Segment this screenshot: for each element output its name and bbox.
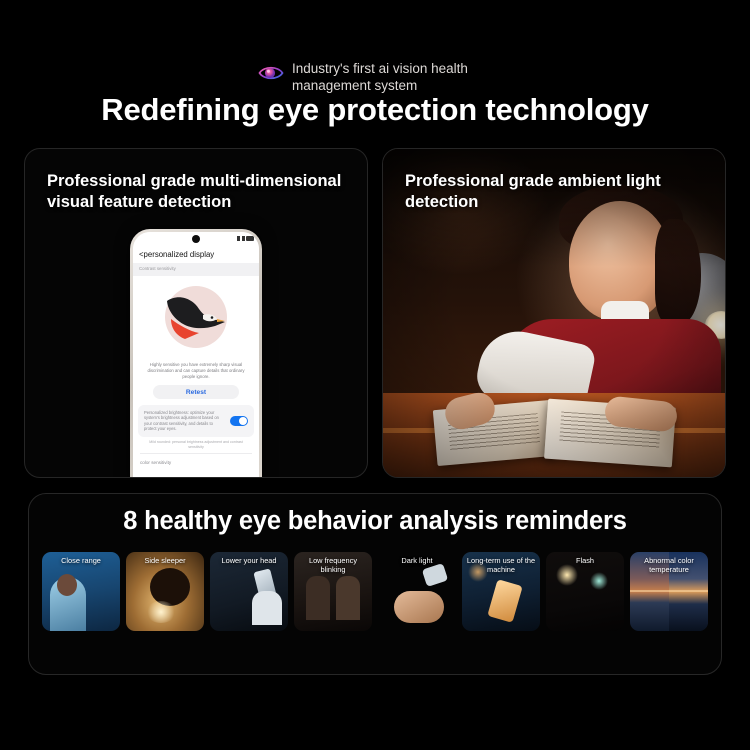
signal-icon — [237, 236, 240, 241]
behavior-label: Flash — [546, 556, 624, 565]
behavior-label: Dark light — [378, 556, 456, 565]
setting-description: Personalized brightness: optimize your s… — [144, 410, 225, 432]
eyebrow-text: Industry's first ai vision health manage… — [292, 60, 492, 94]
phone-status-bar — [133, 232, 259, 245]
behavior-card-side-sleeper[interactable]: Side sleeper — [126, 552, 204, 631]
behavior-label: Lower your head — [210, 556, 288, 565]
feature-card-title: Professional grade multi-dimensional vis… — [47, 171, 367, 213]
behavior-card-long-term-use[interactable]: Long-term use of the machine — [462, 552, 540, 631]
behavior-card-lower-your-head[interactable]: Lower your head — [210, 552, 288, 631]
retest-button[interactable]: Retest — [153, 385, 239, 399]
behavior-label: Long-term use of the machine — [462, 556, 540, 575]
camera-notch-icon — [192, 235, 200, 243]
illustration-panel — [133, 276, 259, 358]
status-indicators — [237, 236, 254, 241]
behavior-card-close-range[interactable]: Close range — [42, 552, 120, 631]
phone-mockup: <personalized display Contrast sensitivi… — [130, 229, 262, 478]
behavior-label: Abnormal color temperature — [630, 556, 708, 575]
behaviors-section: 8 healthy eye behavior analysis reminder… — [28, 493, 722, 675]
feature-card-title: Professional grade ambient light detecti… — [405, 171, 725, 213]
page-title: Redefining eye protection technology — [0, 92, 750, 128]
behavior-card-flash[interactable]: Flash — [546, 552, 624, 631]
phone-screen: <personalized display Contrast sensitivi… — [133, 232, 259, 478]
setting-footnote: Mild rounded: personal brightness adjust… — [133, 437, 259, 450]
phone-nav-title: <personalized display — [139, 250, 214, 259]
wifi-icon — [242, 236, 245, 241]
behavior-label: Side sleeper — [126, 556, 204, 565]
promo-page: Industry's first ai vision health manage… — [0, 0, 750, 750]
behavior-card-low-frequency-blinking[interactable]: Low frequency blinking — [294, 552, 372, 631]
behavior-card-abnormal-color-temperature[interactable]: Abnormal color temperature — [630, 552, 708, 631]
battery-icon — [246, 236, 254, 241]
feature-card-ambient-light[interactable]: Professional grade ambient light detecti… — [382, 148, 726, 478]
colorful-eye-icon — [258, 63, 284, 83]
flying-eagle-icon — [159, 289, 233, 345]
behavior-label: Low frequency blinking — [294, 556, 372, 575]
behavior-label: Close range — [42, 556, 120, 565]
contrast-sensitivity-label: Contrast sensitivity — [133, 263, 259, 276]
personalized-brightness-setting[interactable]: Personalized brightness: optimize your s… — [138, 405, 254, 437]
feature-card-visual-detection[interactable]: Professional grade multi-dimensional vis… — [24, 148, 368, 478]
phone-nav-bar[interactable]: <personalized display — [133, 245, 259, 263]
behaviors-row: Close range Side sleeper Lower your head… — [29, 552, 721, 631]
feature-cards-row: Professional grade multi-dimensional vis… — [24, 148, 726, 478]
result-description: Highly sensitive you have extremely shar… — [133, 358, 259, 380]
brightness-toggle[interactable] — [230, 416, 248, 426]
behaviors-section-title: 8 healthy eye behavior analysis reminder… — [29, 507, 721, 536]
color-sensitivity-label: color sensitivity — [133, 454, 259, 465]
eyebrow-banner: Industry's first ai vision health manage… — [0, 60, 750, 94]
behavior-card-dark-light[interactable]: Dark light — [378, 552, 456, 631]
